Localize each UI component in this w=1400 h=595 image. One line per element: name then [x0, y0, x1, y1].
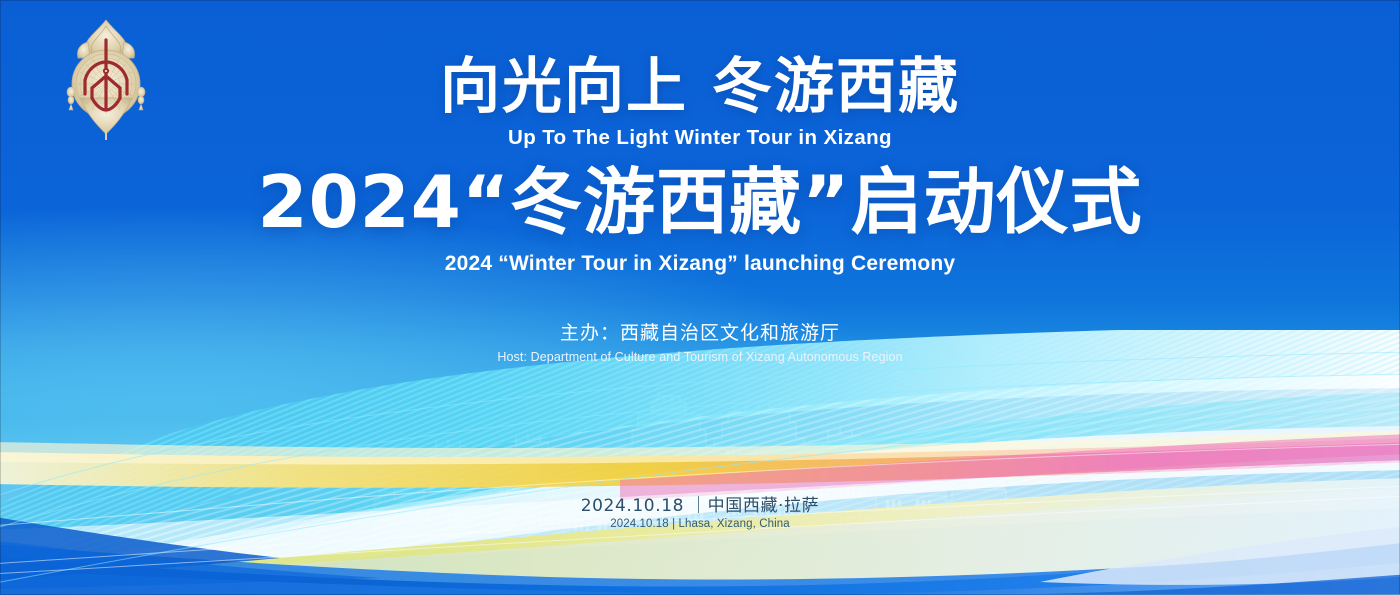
- headline-cn-part2: 冬游西藏: [712, 52, 960, 122]
- headline-english: Up To The Light Winter Tour in Xizang: [0, 126, 1400, 150]
- date-location-chinese: 2024.10.18 ｜中国西藏·拉萨: [0, 491, 1400, 516]
- event-date-location: 2024.10.18 ｜中国西藏·拉萨 2024.10.18 | Lhasa, …: [0, 491, 1400, 530]
- headline-chinese: 向光向上冬游西藏: [0, 57, 1400, 117]
- main-title-chinese: 2024“冬游西藏”启动仪式: [0, 166, 1400, 238]
- poster-canvas: 向光向上冬游西藏 Up To The Light Winter Tour in …: [0, 0, 1400, 595]
- decorative-wave-ribbons: [0, 330, 1400, 595]
- headline-cn-part1: 向光向上: [440, 52, 688, 122]
- host-line-chinese: 主办：西藏自治区文化和旅游厅: [0, 318, 1400, 345]
- poster-text-block: 向光向上冬游西藏 Up To The Light Winter Tour in …: [0, 0, 1400, 364]
- host-line-english: Host: Department of Culture and Tourism …: [0, 350, 1400, 364]
- date-location-english: 2024.10.18 | Lhasa, Xizang, China: [0, 518, 1400, 530]
- main-title-english: 2024 “Winter Tour in Xizang” launching C…: [0, 252, 1400, 276]
